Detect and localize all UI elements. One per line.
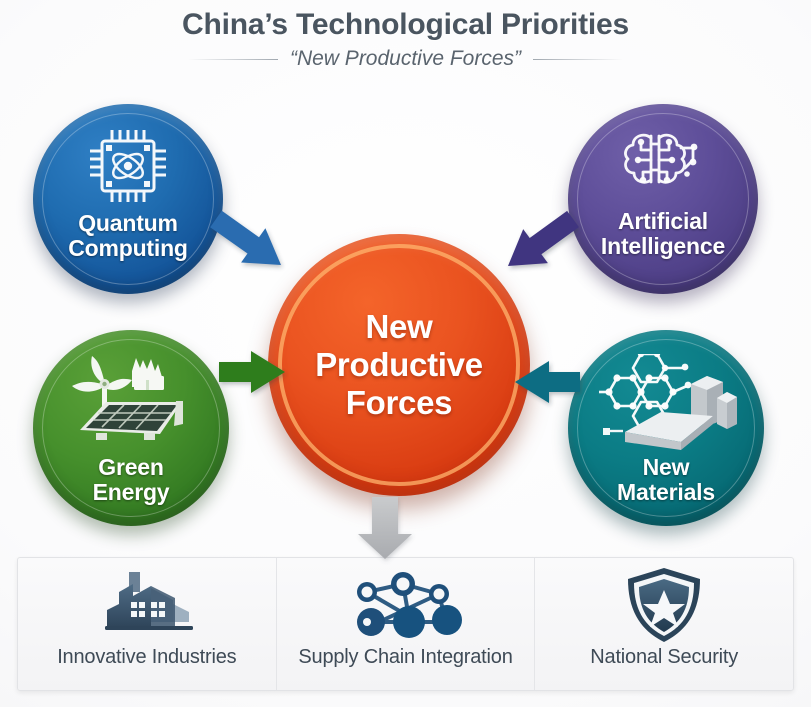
node-artificial-intelligence[interactable]: ArtificialIntelligence <box>568 104 758 294</box>
pillar-label: Innovative Industries <box>57 646 236 669</box>
node-label: ArtificialIntelligence <box>601 209 725 259</box>
node-green-energy[interactable]: GreenEnergy <box>33 330 229 526</box>
subtitle-rule-right <box>533 59 623 60</box>
subtitle-rule-left <box>188 59 278 60</box>
outcomes-panel: Innovative Industries <box>17 557 794 691</box>
center-label: NewProductiveForces <box>315 308 483 422</box>
pillar-label: National Security <box>590 646 738 669</box>
node-new-productive-forces[interactable]: NewProductiveForces <box>268 234 530 496</box>
shield-star-icon <box>622 568 706 642</box>
molecule-lattice-blocks-icon <box>595 354 737 455</box>
pillar-national-security[interactable]: National Security <box>534 558 793 690</box>
header: China’s Technological Priorities “New Pr… <box>0 0 811 71</box>
node-quantum-computing[interactable]: QuantumComputing <box>33 104 223 294</box>
pillar-innovative-industries[interactable]: Innovative Industries <box>18 558 276 690</box>
page-subtitle: “New Productive Forces” <box>290 47 521 71</box>
infographic-canvas: China’s Technological Priorities “New Pr… <box>0 0 811 707</box>
factory-icon <box>89 568 205 642</box>
pillar-label: Supply Chain Integration <box>298 646 512 669</box>
node-new-materials[interactable]: NewMaterials <box>568 330 764 526</box>
node-label: QuantumComputing <box>68 211 188 261</box>
microchip-atom-icon <box>86 126 170 211</box>
node-label: NewMaterials <box>617 455 715 505</box>
brain-circuit-icon <box>615 126 711 209</box>
arrow-center-to-pillars <box>358 497 412 559</box>
wind-turbine-solar-panel-icon <box>62 354 200 455</box>
pillar-supply-chain-integration[interactable]: Supply Chain Integration <box>276 558 535 690</box>
page-title: China’s Technological Priorities <box>0 6 811 44</box>
node-label: GreenEnergy <box>93 455 170 505</box>
arrow-ai-to-center <box>508 211 579 266</box>
network-nodes-icon <box>345 568 467 642</box>
subtitle-row: “New Productive Forces” <box>0 47 811 71</box>
